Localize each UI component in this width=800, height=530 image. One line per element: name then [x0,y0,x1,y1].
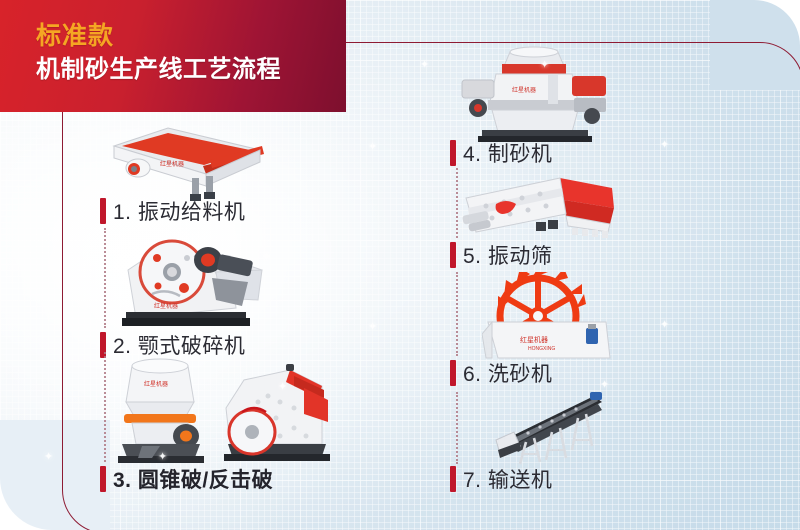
svg-text:HONGXING: HONGXING [528,346,555,352]
sparkle-icon: ✦ [278,382,287,393]
step-label-1[interactable]: 1. 振动给料机 [100,196,245,226]
step-marker-bar [100,466,106,492]
sparkle-icon: ✦ [600,380,609,391]
jaw-crusher-icon: 红星机器 [112,226,278,330]
step-label-text: 5. 振动筛 [463,240,552,270]
sparkle-icon: ✦ [420,60,429,71]
connector-right-6-7 [456,392,460,464]
sparkle-icon: ✦ [368,322,377,333]
step-label-text: 1. 振动给料机 [113,196,245,226]
step-label-text: 7. 输送机 [463,464,552,494]
step-marker-bar [450,360,456,386]
step-marker-bar [100,198,106,224]
infographic-stage: ✦ ✦ ✦ ✦ ✦ ✦ ✦ ✦ ✦ ✦ ✦ ✦ [0,0,800,530]
bottom-left-corner-mask [0,420,110,530]
svg-text:红星机器: 红星机器 [520,335,548,344]
step-marker-bar [450,140,456,166]
step-label-5[interactable]: 5. 振动筛 [450,240,552,270]
top-right-corner-mask [710,0,800,90]
title-banner: 标准款 机制砂生产线工艺流程 [0,0,346,112]
vibrating-screen-icon [452,174,622,242]
svg-text:红星机器: 红星机器 [154,302,178,310]
step-label-6[interactable]: 6. 洗砂机 [450,358,552,388]
sparkle-icon: ✦ [660,140,669,151]
sparkle-icon: ✦ [44,452,53,463]
connector-left-2-3 [104,352,108,462]
step-marker-bar [450,242,456,268]
step-marker-bar [450,466,456,492]
cone-impact-crusher-icon: 红星机器 [108,356,338,464]
sand-making-machine-icon: 红星机器 [452,46,622,142]
banner-title: 标准款 [36,22,114,51]
sand-washing-machine-icon: 红星机器 HONGXING [482,272,626,362]
step-label-text: 6. 洗砂机 [463,358,552,388]
connector-right-4-5 [456,168,460,238]
sparkle-icon: ✦ [368,142,377,153]
svg-text:红星机器: 红星机器 [512,86,536,94]
sparkle-icon: ✦ [104,188,113,199]
vibrating-feeder-icon: 红星机器 [100,116,270,202]
belt-conveyor-icon [490,388,626,468]
svg-text:红星机器: 红星机器 [160,160,184,168]
step-label-4[interactable]: 4. 制砂机 [450,138,552,168]
svg-text:红星机器: 红星机器 [144,380,168,388]
step-label-3[interactable]: 3. 圆锥破/反击破 [100,464,273,494]
connector-left-1-2 [104,228,108,328]
sparkle-icon: ✦ [540,60,549,71]
sparkle-icon: ✦ [660,320,669,331]
step-label-text: 4. 制砂机 [463,138,552,168]
banner-subtitle: 机制砂生产线工艺流程 [36,56,281,85]
sparkle-icon: ✦ [158,452,167,463]
step-label-7[interactable]: 7. 输送机 [450,464,552,494]
sparkle-icon: ✦ [262,252,271,263]
connector-right-5-6 [456,272,460,356]
step-label-text: 3. 圆锥破/反击破 [113,464,273,494]
